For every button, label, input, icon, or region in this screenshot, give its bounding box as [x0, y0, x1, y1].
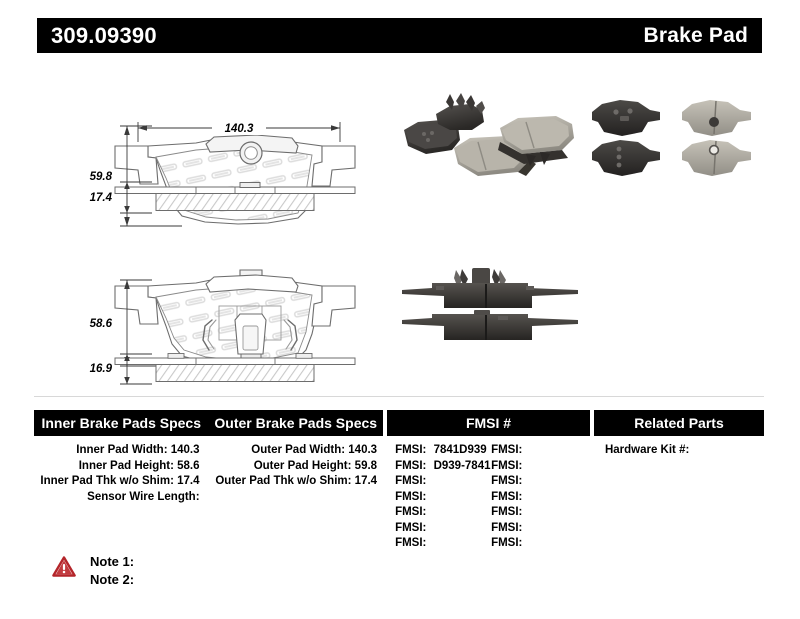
fmsi-subcolumn-right: FMSI: FMSI: FMSI: FMSI:: [491, 443, 587, 552]
fmsi-row: FMSI:: [395, 490, 491, 506]
top-pad-side-profile: 17.4: [90, 182, 355, 213]
spec-value: 59.8: [355, 460, 377, 472]
spec-value: 17.4: [355, 475, 377, 487]
fmsi-row: FMSI:: [491, 443, 587, 459]
spec-row: Outer Pad Width: 140.3: [212, 443, 386, 459]
dimension-height-top-label: 59.8: [90, 171, 113, 183]
fmsi-value: [522, 522, 526, 534]
related-part-row: Hardware Kit #:: [595, 443, 764, 459]
fmsi-value: [426, 522, 430, 534]
fmsi-value: D939-7841: [430, 460, 491, 472]
table-separator-rule: [34, 396, 764, 397]
fmsi-label: FMSI:: [395, 522, 426, 534]
fmsi-value: [426, 506, 430, 518]
fmsi-row: FMSI: 7841D939: [395, 443, 491, 459]
fmsi-value: [522, 491, 526, 503]
bottom-pad-plan-view: 58.6: [90, 270, 355, 366]
fmsi-label: FMSI:: [491, 475, 522, 487]
fmsi-row: FMSI:: [491, 536, 587, 552]
page-title: Brake Pad: [643, 24, 748, 48]
dimension-width-top-label: 140.3: [225, 123, 254, 135]
fmsi-row: FMSI:: [395, 536, 491, 552]
related-part-label: Hardware Kit #:: [605, 444, 689, 456]
spec-row: Outer Pad Height: 59.8: [212, 459, 386, 475]
fmsi-value: [522, 506, 526, 518]
pads-header-block: Inner Brake Pads Specs Outer Brake Pads …: [34, 410, 383, 436]
fmsi-value: [426, 491, 430, 503]
fmsi-label: FMSI:: [395, 491, 426, 503]
fmsi-label: FMSI:: [395, 444, 426, 456]
fmsi-label: FMSI:: [491, 537, 522, 549]
fmsi-value: [426, 537, 430, 549]
fmsi-label: FMSI:: [491, 506, 522, 518]
spec-row: Inner Pad Thk w/o Shim: 17.4: [34, 474, 208, 490]
fmsi-row: FMSI:: [395, 474, 491, 490]
fmsi-row: FMSI:: [491, 490, 587, 506]
inner-specs-column: Inner Pad Width: 140.3 Inner Pad Height:…: [34, 443, 208, 552]
angled-pad-set-photo: [396, 88, 578, 186]
spec-row: Outer Pad Thk w/o Shim: 17.4: [212, 474, 386, 490]
fmsi-row: FMSI:: [491, 521, 587, 537]
fmsi-value: 7841D939: [430, 444, 487, 456]
pad-edge-profile-photo: [392, 258, 588, 356]
fmsi-value: [522, 475, 526, 487]
related-parts-header: Related Parts: [594, 410, 764, 436]
pad-pairs-front-back-photo: [586, 92, 758, 184]
fmsi-label: FMSI:: [491, 522, 522, 534]
fmsi-label: FMSI:: [395, 460, 426, 472]
spec-label: Sensor Wire Length:: [87, 491, 199, 503]
fmsi-label: FMSI:: [395, 537, 426, 549]
spec-value: 140.3: [171, 444, 200, 456]
fmsi-subcolumn-left: FMSI: 7841D939 FMSI: D939-7841 FMSI: FMS…: [395, 443, 491, 552]
fmsi-row: FMSI:: [395, 505, 491, 521]
table-body-row: Inner Pad Width: 140.3 Inner Pad Height:…: [34, 443, 764, 552]
outer-specs-column: Outer Pad Width: 140.3 Outer Pad Height:…: [212, 443, 386, 552]
fmsi-label: FMSI:: [395, 475, 426, 487]
fmsi-value: [522, 460, 526, 472]
spec-label: Outer Pad Thk w/o Shim:: [215, 475, 351, 487]
fmsi-value: [522, 444, 526, 456]
fmsi-value: [522, 537, 526, 549]
fmsi-row: FMSI:: [491, 459, 587, 475]
spec-label: Inner Pad Width:: [76, 444, 167, 456]
fmsi-label: FMSI:: [395, 506, 426, 518]
fmsi-value: [426, 475, 430, 487]
note-line-2: Note 2:: [90, 571, 134, 589]
warning-triangle-icon: [52, 556, 76, 582]
fmsi-header: FMSI #: [387, 410, 590, 436]
inner-specs-header: Inner Brake Pads Specs: [34, 415, 209, 431]
spec-value: 58.6: [177, 460, 199, 472]
dimension-thickness-bottom-label: 16.9: [90, 363, 113, 375]
spec-label: Outer Pad Width:: [251, 444, 345, 456]
part-number: 309.09390: [51, 23, 157, 49]
header-bar: 309.09390 Brake Pad: [37, 18, 762, 53]
note-lines: Note 1: Note 2:: [90, 553, 134, 589]
spec-value: 140.3: [348, 444, 377, 456]
spec-row: Inner Pad Height: 58.6: [34, 459, 208, 475]
fmsi-row: FMSI:: [395, 521, 491, 537]
notes-section: Note 1: Note 2:: [52, 553, 134, 589]
dimension-thickness-top-label: 17.4: [90, 192, 113, 204]
spec-row: Inner Pad Width: 140.3: [34, 443, 208, 459]
spec-value: 17.4: [177, 475, 199, 487]
fmsi-label: FMSI:: [491, 460, 522, 472]
fmsi-row: FMSI:: [491, 505, 587, 521]
related-parts-column: Hardware Kit #:: [595, 443, 764, 552]
spec-label: Inner Pad Height:: [79, 460, 174, 472]
spec-label: Outer Pad Height:: [254, 460, 352, 472]
fmsi-column: FMSI: 7841D939 FMSI: D939-7841 FMSI: FMS…: [389, 443, 591, 552]
outer-specs-header: Outer Brake Pads Specs: [209, 415, 384, 431]
table-header-row: Inner Brake Pads Specs Outer Brake Pads …: [34, 410, 764, 436]
specs-table: Inner Brake Pads Specs Outer Brake Pads …: [34, 410, 764, 552]
spec-row: Sensor Wire Length:: [34, 490, 208, 506]
dimension-height-bottom-label: 58.6: [90, 318, 113, 330]
note-line-1: Note 1:: [90, 553, 134, 571]
fmsi-label: FMSI:: [491, 491, 522, 503]
spec-label: Inner Pad Thk w/o Shim:: [40, 475, 174, 487]
fmsi-row: FMSI: D939-7841: [395, 459, 491, 475]
fmsi-row: FMSI:: [491, 474, 587, 490]
fmsi-label: FMSI:: [491, 444, 522, 456]
